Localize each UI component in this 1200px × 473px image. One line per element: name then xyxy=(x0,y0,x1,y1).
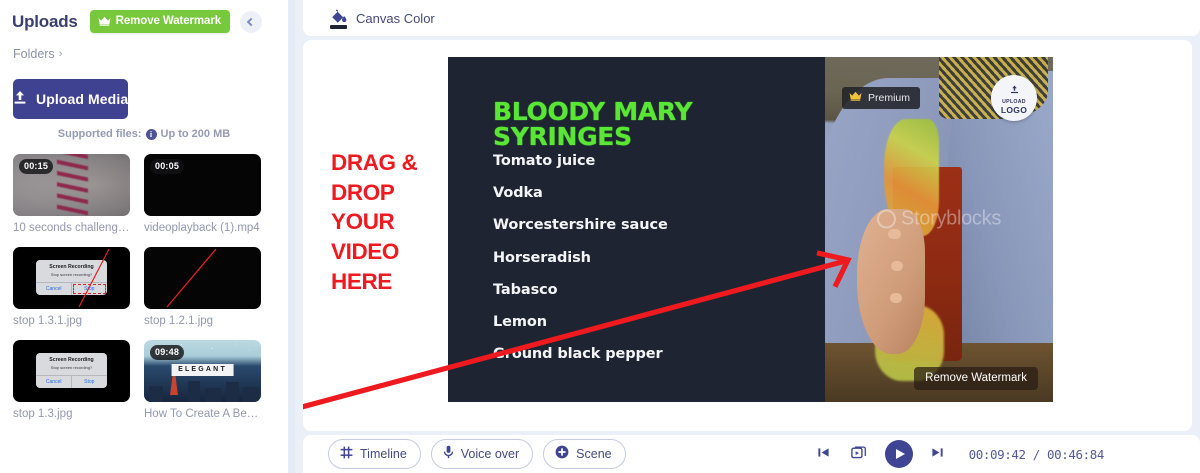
list-item[interactable]: Screen Recording Stop screen recording? … xyxy=(13,340,130,420)
dialog-cancel: Cancel xyxy=(36,376,72,388)
stock-video-clip[interactable]: Premium UPLOAD LOGO xyxy=(825,57,1053,402)
sliders-icon xyxy=(340,446,353,462)
list-item[interactable]: Screen Recording Stop screen recording? … xyxy=(13,247,130,327)
ingredient-item: Worcestershire sauce xyxy=(493,217,811,233)
building xyxy=(205,388,221,402)
list-item[interactable]: ELEGANT 09:48 How To Create A Beautiful.… xyxy=(144,340,261,420)
uploads-grid: 00:15 10 seconds challenge – Tik... 00:0… xyxy=(0,154,288,420)
ingredient-item: Ground black pepper xyxy=(493,346,811,362)
skip-next-icon xyxy=(931,446,944,462)
voice-over-label: Voice over xyxy=(461,447,519,461)
play-icon xyxy=(896,449,905,459)
canvas-toolbar: Canvas Color xyxy=(303,0,1200,36)
skip-previous-button[interactable] xyxy=(806,440,842,468)
folders-label: Folders xyxy=(13,47,55,61)
timeline-label: Timeline xyxy=(360,447,407,461)
list-item[interactable]: 00:05 videoplayback (1).mp4 xyxy=(144,154,261,234)
voice-over-button[interactable]: Voice over xyxy=(431,439,533,469)
play-button[interactable] xyxy=(885,440,913,468)
add-scene-label: Scene xyxy=(576,447,611,461)
media-filename: stop 1.3.1.jpg xyxy=(13,315,130,327)
ingredient-item: Vodka xyxy=(493,185,811,201)
duration-badge: 09:48 xyxy=(150,345,184,360)
premium-badge: Premium xyxy=(842,87,920,109)
timeline-button[interactable]: Timeline xyxy=(328,439,421,469)
building xyxy=(226,382,239,402)
hand-decoration xyxy=(857,209,925,354)
editor-main: Canvas Color DRAG & DROP YOUR VIDEO HERE… xyxy=(295,0,1200,473)
drag-drop-annotation: DRAG & DROP YOUR VIDEO HERE xyxy=(331,148,439,296)
breadcrumb-folders[interactable]: Folders › xyxy=(0,37,288,61)
ingredient-list: Tomato juice Vodka Worcestershire sauce … xyxy=(493,153,811,378)
timecode-display: 00:09:42 / 00:46:84 xyxy=(969,447,1104,462)
recipe-text-panel[interactable]: BLOODY MARY SYRINGES Tomato juice Vodka … xyxy=(448,57,825,402)
supported-files-label: Supported files: xyxy=(58,128,142,140)
list-item[interactable]: 00:15 10 seconds challenge – Tik... xyxy=(13,154,130,234)
media-thumbnail[interactable]: Screen Recording Stop screen recording? … xyxy=(13,340,130,402)
paint-bucket-icon xyxy=(329,9,348,28)
building xyxy=(149,386,163,402)
upload-media-button[interactable]: Upload Media xyxy=(13,79,128,119)
building xyxy=(243,387,258,402)
media-filename: stop 1.3.jpg xyxy=(13,408,130,420)
editor-mode-buttons: Timeline Voice over xyxy=(328,439,626,469)
ingredient-item: Lemon xyxy=(493,314,811,330)
ingredient-item: Tabasco xyxy=(493,282,811,298)
skip-next-button[interactable] xyxy=(920,440,956,468)
crown-icon xyxy=(849,91,862,104)
supported-files-value: Up to 200 MB xyxy=(161,128,231,140)
ingredient-item: Horseradish xyxy=(493,250,811,266)
video-editor-app: Uploads Remove Watermark Folders › xyxy=(0,0,1200,473)
upload-logo-line2: LOGO xyxy=(1001,105,1027,115)
media-filename: How To Create A Beautiful... xyxy=(144,408,261,420)
plus-circle-icon xyxy=(555,445,569,462)
add-scene-button[interactable]: Scene xyxy=(543,439,625,469)
canvas-stage: DRAG & DROP YOUR VIDEO HERE BLOODY MARY … xyxy=(303,40,1192,431)
media-thumbnail[interactable]: ELEGANT 09:48 xyxy=(144,340,261,402)
media-filename: stop 1.2.1.jpg xyxy=(144,315,261,327)
recipe-title: BLOODY MARY SYRINGES xyxy=(493,99,803,149)
supported-files-note: Supported files: i Up to 200 MB xyxy=(0,128,288,140)
crown-icon xyxy=(98,16,111,26)
microphone-icon xyxy=(443,445,454,462)
dialog-body: Stop screen recording? xyxy=(39,365,103,370)
remove-watermark-overlay-button[interactable]: Remove Watermark xyxy=(914,367,1038,390)
media-thumbnail[interactable]: Screen Recording Stop screen recording? … xyxy=(13,247,130,309)
media-filename: videoplayback (1).mp4 xyxy=(144,222,261,234)
sidebar-header: Uploads Remove Watermark xyxy=(0,0,288,37)
red-annotation-line xyxy=(13,247,130,309)
page-title: Uploads xyxy=(12,12,78,32)
upload-media-label: Upload Media xyxy=(36,91,128,107)
elegant-overlay-text: ELEGANT xyxy=(171,364,234,376)
upload-logo-button[interactable]: UPLOAD LOGO xyxy=(991,75,1037,121)
media-filename: 10 seconds challenge – Tik... xyxy=(13,222,130,234)
remove-watermark-overlay-label: Remove Watermark xyxy=(925,372,1027,384)
duplicate-scene-icon xyxy=(851,444,868,464)
uploads-sidebar: Uploads Remove Watermark Folders › xyxy=(0,0,288,473)
duplicate-scene-button[interactable] xyxy=(842,440,878,468)
premium-label: Premium xyxy=(868,92,910,104)
media-thumbnail[interactable] xyxy=(144,247,261,309)
remove-watermark-label: Remove Watermark xyxy=(116,15,221,27)
canvas-color-button[interactable]: Canvas Color xyxy=(329,9,435,28)
chevron-left-icon xyxy=(246,17,254,25)
color-swatch[interactable] xyxy=(330,25,347,29)
canvas-color-label: Canvas Color xyxy=(356,11,435,26)
sidebar-scrollbar-track[interactable] xyxy=(288,0,295,473)
dialog-title: Screen Recording xyxy=(39,357,103,363)
upload-icon xyxy=(1010,81,1019,99)
video-canvas[interactable]: BLOODY MARY SYRINGES Tomato juice Vodka … xyxy=(448,57,1053,402)
upload-icon xyxy=(13,90,27,108)
playback-controls: 00:09:42 / 00:46:84 xyxy=(806,440,1104,468)
playback-toolbar: Timeline Voice over xyxy=(303,435,1200,473)
list-item[interactable]: stop 1.2.1.jpg xyxy=(144,247,261,327)
info-icon[interactable]: i xyxy=(146,129,157,140)
building xyxy=(188,381,200,402)
duration-badge: 00:15 xyxy=(19,159,53,174)
duration-badge: 00:05 xyxy=(150,159,184,174)
collapse-sidebar-button[interactable] xyxy=(240,11,262,33)
ingredient-item: Tomato juice xyxy=(493,153,811,169)
screen-recording-dialog: Screen Recording Stop screen recording? … xyxy=(36,353,106,388)
chevron-right-icon: › xyxy=(59,48,63,60)
media-thumbnail[interactable]: 00:05 xyxy=(144,154,261,216)
skip-previous-icon xyxy=(817,446,830,462)
red-annotation-line xyxy=(144,247,261,309)
remove-watermark-button[interactable]: Remove Watermark xyxy=(90,10,230,33)
media-thumbnail[interactable]: 00:15 xyxy=(13,154,130,216)
dialog-stop: Stop xyxy=(72,376,107,388)
